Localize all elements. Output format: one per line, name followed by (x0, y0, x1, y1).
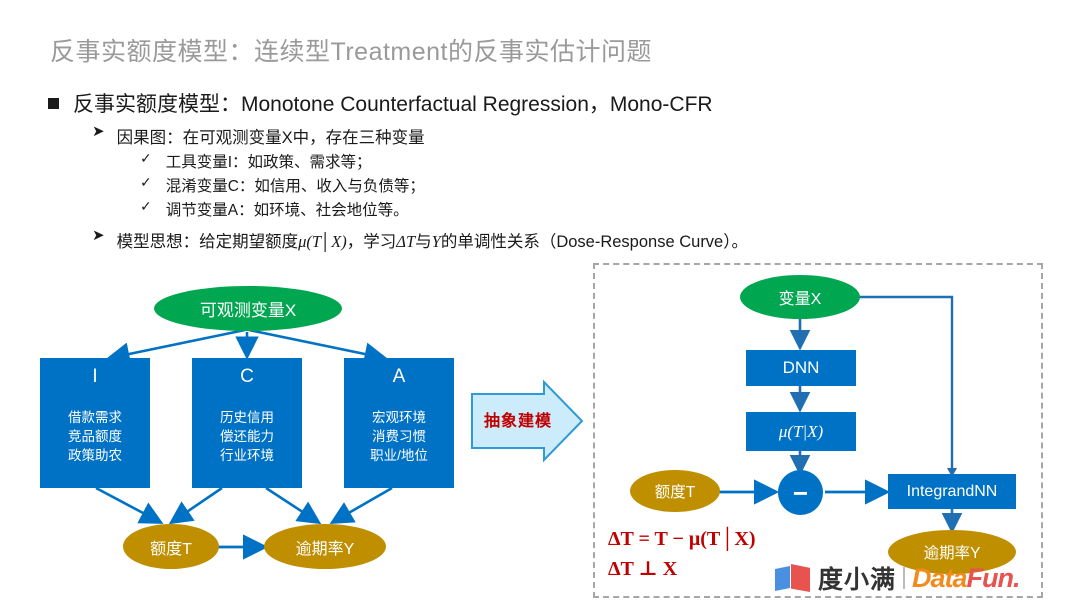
node-mu-t-given-x[interactable]: μ(T|X) (746, 412, 856, 451)
node-integrand-nn-label: IntegrandNN (907, 483, 998, 501)
model-idea-prefix: 模型思想：给定期望额度 (117, 233, 299, 251)
bullet-level2-model-idea: ➤ 模型思想：给定期望额度μ(T│X)，学习ΔT与Y的单调性关系（Dose-Re… (92, 228, 748, 252)
bullet-level3-instrument: ✓ 工具变量I：如政策、需求等； (140, 150, 372, 172)
node-overdue-rate-y[interactable]: 逾期率Y (264, 524, 386, 569)
node-treatment-t[interactable]: 额度T (630, 470, 720, 512)
model-idea-with: 与 (415, 233, 432, 251)
bullet-level3-adjuster: ✓ 调节变量A：如环境、社会地位等。 (140, 198, 409, 220)
formula-delta-t-independence: ΔT ⊥ X (608, 556, 677, 581)
formula-delta-t-definition: ΔT = T − μ(T│X) (608, 528, 756, 551)
bullet-level2-model-idea-label: 模型思想：给定期望额度μ(T│X)，学习ΔT与Y的单调性关系（Dose-Resp… (117, 228, 748, 252)
abstraction-arrow: 抽象建模 (468, 380, 586, 462)
square-bullet-icon (48, 98, 59, 109)
node-box-c-line-2: 偿还能力 (220, 427, 274, 446)
chevron-right-icon: ➤ (92, 124, 105, 141)
node-dnn[interactable]: DNN (746, 350, 856, 386)
node-credit-limit-t[interactable]: 额度T (123, 524, 219, 569)
node-box-i-line-1: 借款需求 (68, 408, 122, 427)
node-minus-operator[interactable]: − (778, 470, 823, 515)
node-variable-x-label: 变量X (779, 285, 822, 309)
book-logo-right-page (791, 564, 810, 592)
node-box-a-title: A (393, 366, 406, 388)
book-logo-icon (775, 564, 811, 592)
node-observable-variable-x-label: 可观测变量X (200, 296, 296, 321)
footer-logo: 度小满 DataFun. (775, 560, 1020, 596)
node-dnn-label: DNN (783, 358, 820, 378)
bullet-level1: 反事实额度模型：Monotone Counterfactual Regressi… (48, 88, 713, 118)
node-box-a[interactable]: A 宏观环境 消费习惯 职业/地位 (344, 358, 454, 488)
bullet-level1-label: 反事实额度模型：Monotone Counterfactual Regressi… (73, 88, 713, 118)
node-treatment-t-label: 额度T (655, 480, 695, 502)
bullet-level3-confounder-label: 混淆变量C：如信用、收入与负债等； (166, 174, 425, 196)
node-observable-variable-x[interactable]: 可观测变量X (154, 286, 342, 331)
node-box-c-line-3: 行业环境 (220, 446, 274, 465)
bullet-level2-causal-graph-label: 因果图：在可观测变量X中，存在三种变量 (117, 124, 425, 148)
logo-divider (903, 567, 905, 589)
check-icon: ✓ (140, 150, 152, 167)
node-overdue-rate-y-label: 逾期率Y (296, 535, 355, 559)
bullet-level2-causal-graph: ➤ 因果图：在可观测变量X中，存在三种变量 (92, 124, 425, 148)
model-idea-mu: μ(T│X) (298, 232, 347, 251)
chevron-right-icon: ➤ (92, 228, 105, 245)
minus-icon: − (793, 480, 808, 506)
partner-logo-datafun: DataFun. (912, 563, 1020, 594)
node-box-i[interactable]: I 借款需求 竞品额度 政策助农 (40, 358, 150, 488)
node-box-c[interactable]: C 历史信用 偿还能力 行业环境 (192, 358, 302, 488)
partner-logo-dot: . (1013, 563, 1020, 593)
partner-logo-data: Data (912, 563, 967, 593)
node-box-c-line-1: 历史信用 (220, 408, 274, 427)
check-icon: ✓ (140, 174, 152, 191)
node-variable-x[interactable]: 变量X (740, 275, 860, 319)
node-box-i-line-3: 政策助农 (68, 446, 122, 465)
node-mu-t-given-x-label: μ(T|X) (779, 422, 823, 442)
slide-canvas: 反事实额度模型：连续型Treatment的反事实估计问题 反事实额度模型：Mon… (0, 0, 1080, 608)
bullet-level3-confounder: ✓ 混淆变量C：如信用、收入与负债等； (140, 174, 425, 196)
partner-logo-fun: Fun (967, 563, 1013, 593)
page-title: 反事实额度模型：连续型Treatment的反事实估计问题 (50, 32, 652, 68)
book-logo-left-page (775, 566, 790, 591)
node-box-i-line-2: 竞品额度 (68, 427, 122, 446)
node-box-a-line-2: 消费习惯 (372, 427, 426, 446)
node-box-c-title: C (240, 366, 254, 388)
model-idea-delta-t: ΔT (396, 232, 415, 251)
check-icon: ✓ (140, 198, 152, 215)
node-box-a-line-3: 职业/地位 (370, 446, 428, 465)
model-idea-suffix: 的单调性关系（Dose-Response Curve）。 (441, 233, 748, 251)
model-idea-mid: ，学习 (347, 233, 397, 251)
bullet-level3-instrument-label: 工具变量I：如政策、需求等； (166, 150, 372, 172)
bullet-level3-adjuster-label: 调节变量A：如环境、社会地位等。 (166, 198, 409, 220)
node-credit-limit-t-label: 额度T (150, 535, 192, 559)
node-box-i-title: I (92, 366, 97, 388)
brand-name: 度小满 (818, 560, 896, 596)
model-idea-y: Y (432, 232, 441, 251)
node-box-a-line-1: 宏观环境 (372, 408, 426, 427)
node-integrand-nn[interactable]: IntegrandNN (888, 474, 1016, 509)
abstraction-arrow-label: 抽象建模 (482, 407, 554, 431)
